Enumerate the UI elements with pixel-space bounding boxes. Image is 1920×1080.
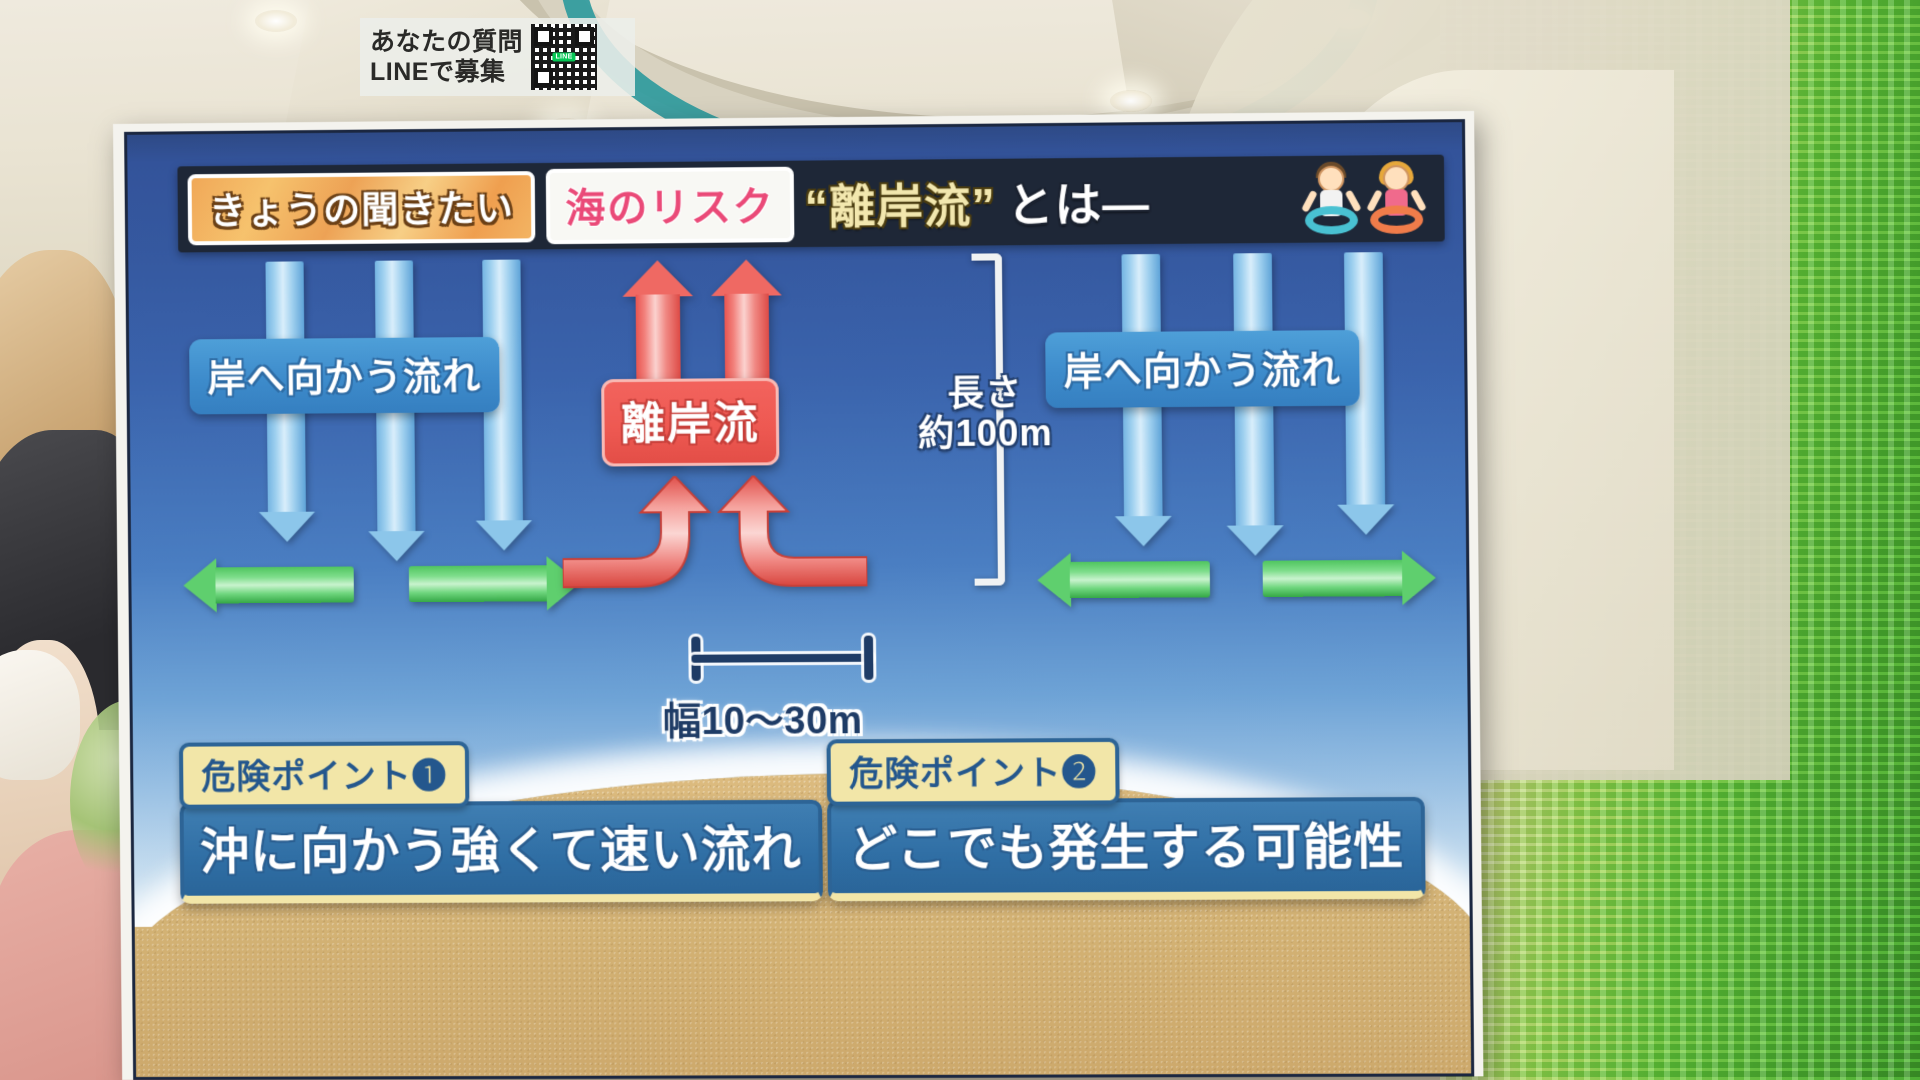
- qr-eye-icon: [534, 27, 553, 46]
- dimension-cap-right: [864, 636, 874, 680]
- width-dimension-line: [691, 636, 873, 681]
- label-width: 幅10〜30m: [663, 689, 863, 745]
- danger-point-1-tag: 危険ポイント❶: [179, 741, 469, 809]
- label-length-line1: 長さ: [884, 372, 1087, 414]
- danger-point-2: 危険ポイント❷ どこでも発生する可能性: [826, 736, 1425, 901]
- title-tail: とは—: [1007, 167, 1151, 235]
- danger-point-1: 危険ポイント❶ 沖に向かう強くて速い流れ: [179, 739, 823, 903]
- board-canvas: きょうの聞きたい 海のリスク “離岸流” とは— 岸へ向かう流れ: [124, 119, 1474, 1080]
- badge-theme: 海のリスク: [546, 166, 794, 244]
- label-shore-flow-right: 岸へ向かう流れ: [1045, 330, 1360, 408]
- longshore-arrow-left-west: [183, 557, 354, 612]
- danger-point-2-text: どこでも発生する可能性: [827, 797, 1425, 901]
- qr-eye-icon: [534, 68, 553, 87]
- badge-topic: きょうの聞きたい: [188, 171, 536, 245]
- label-length: 長さ 約100m: [884, 372, 1087, 455]
- qr-line-badge: LINE: [552, 53, 575, 62]
- downlight: [255, 10, 297, 32]
- line-question-overlay: あなたの質問 LINEで募集 LINE: [360, 18, 635, 96]
- danger-point-2-tag: 危険ポイント❷: [826, 738, 1119, 806]
- qr-eye-icon: [575, 27, 594, 46]
- line-overlay-text: あなたの質問 LINEで募集: [370, 27, 523, 88]
- longshore-arrow-left-east: [409, 556, 580, 611]
- downlight: [1110, 90, 1152, 112]
- presentation-board: きょうの聞きたい 海のリスク “離岸流” とは— 岸へ向かう流れ: [113, 111, 1483, 1080]
- swimmer-boy-icon: [1299, 161, 1363, 236]
- longshore-arrow-right-east: [1262, 551, 1436, 607]
- line-overlay-line2: LINEで募集: [370, 57, 523, 88]
- feeder-arrow-left: [562, 476, 724, 603]
- swimmer-girl-icon: [1365, 161, 1429, 236]
- sand-foreground: [135, 922, 1471, 1077]
- danger-point-1-text: 沖に向かう強くて速い流れ: [180, 800, 823, 904]
- label-length-line2: 約100m: [884, 413, 1087, 455]
- qr-code-icon[interactable]: LINE: [531, 24, 597, 90]
- label-shore-flow-left: 岸へ向かう流れ: [189, 337, 500, 415]
- badge-rip-current: 離岸流: [601, 378, 779, 467]
- swimmers-illustration: [1299, 161, 1434, 237]
- dimension-bar: [691, 654, 873, 663]
- longshore-arrow-right-west: [1037, 552, 1210, 607]
- feeder-arrow-right: [705, 475, 868, 602]
- line-overlay-line1: あなたの質問: [370, 27, 523, 58]
- presenter-sleeve: [0, 650, 80, 780]
- title-quoted-term: “離岸流”: [804, 169, 996, 237]
- board-title-bar: きょうの聞きたい 海のリスク “離岸流” とは—: [177, 155, 1444, 253]
